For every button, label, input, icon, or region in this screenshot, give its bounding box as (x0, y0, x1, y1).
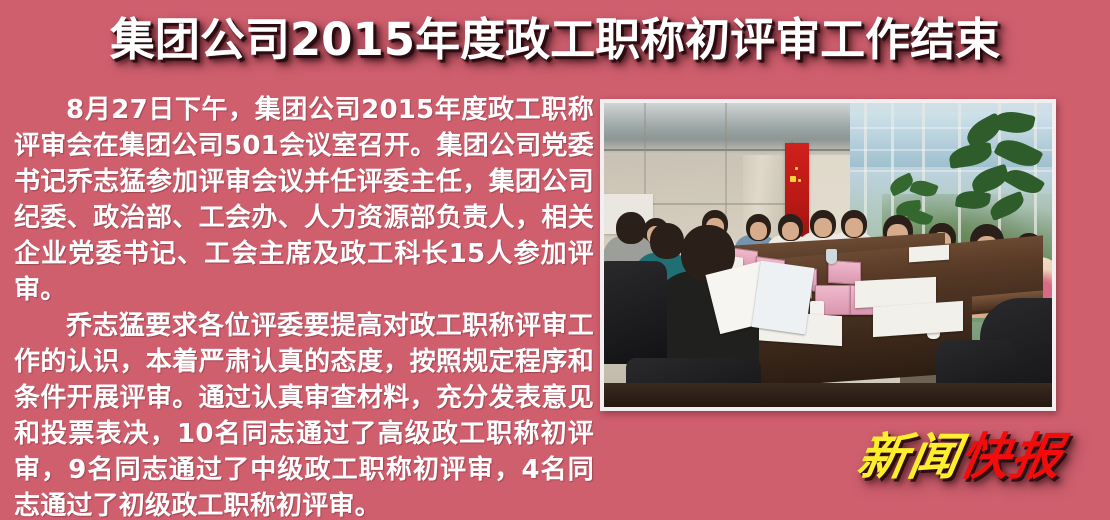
meeting-photo (604, 103, 1052, 407)
photo-document-held (752, 261, 815, 335)
photo-water-bottle (826, 249, 838, 264)
article-paragraph-2: 乔志猛要求各位评委要提高对政工职称评审工作的认识，本着严肃认真的态度，按照规定程… (14, 308, 594, 520)
photo-flag-star (798, 179, 801, 182)
photo-document (873, 300, 963, 337)
page-title: 集团公司2015年度政工职称初评审工作结束 (0, 12, 1110, 68)
news-poster: 集团公司2015年度政工职称初评审工作结束 8月27日下午，集团公司2015年度… (0, 0, 1110, 520)
news-badge-part2: 快报 (955, 428, 1067, 486)
photo-plant-large (944, 109, 1052, 246)
article-body: 8月27日下午，集团公司2015年度政工职称评审会在集团公司501会议室召开。集… (14, 92, 594, 520)
photo-document (909, 244, 949, 262)
photo-frame (600, 99, 1056, 411)
photo-floor (604, 383, 1052, 407)
news-badge: 新闻快报 (852, 425, 1067, 489)
photo-wall-seam-v2 (725, 103, 727, 225)
photo-flag-star (790, 176, 796, 182)
news-badge-part1: 新闻 (853, 428, 965, 486)
photo-chair (604, 261, 667, 364)
photo-flag-star (795, 167, 798, 170)
article-paragraph-1: 8月27日下午，集团公司2015年度政工职称评审会在集团公司501会议室召开。集… (14, 92, 594, 308)
